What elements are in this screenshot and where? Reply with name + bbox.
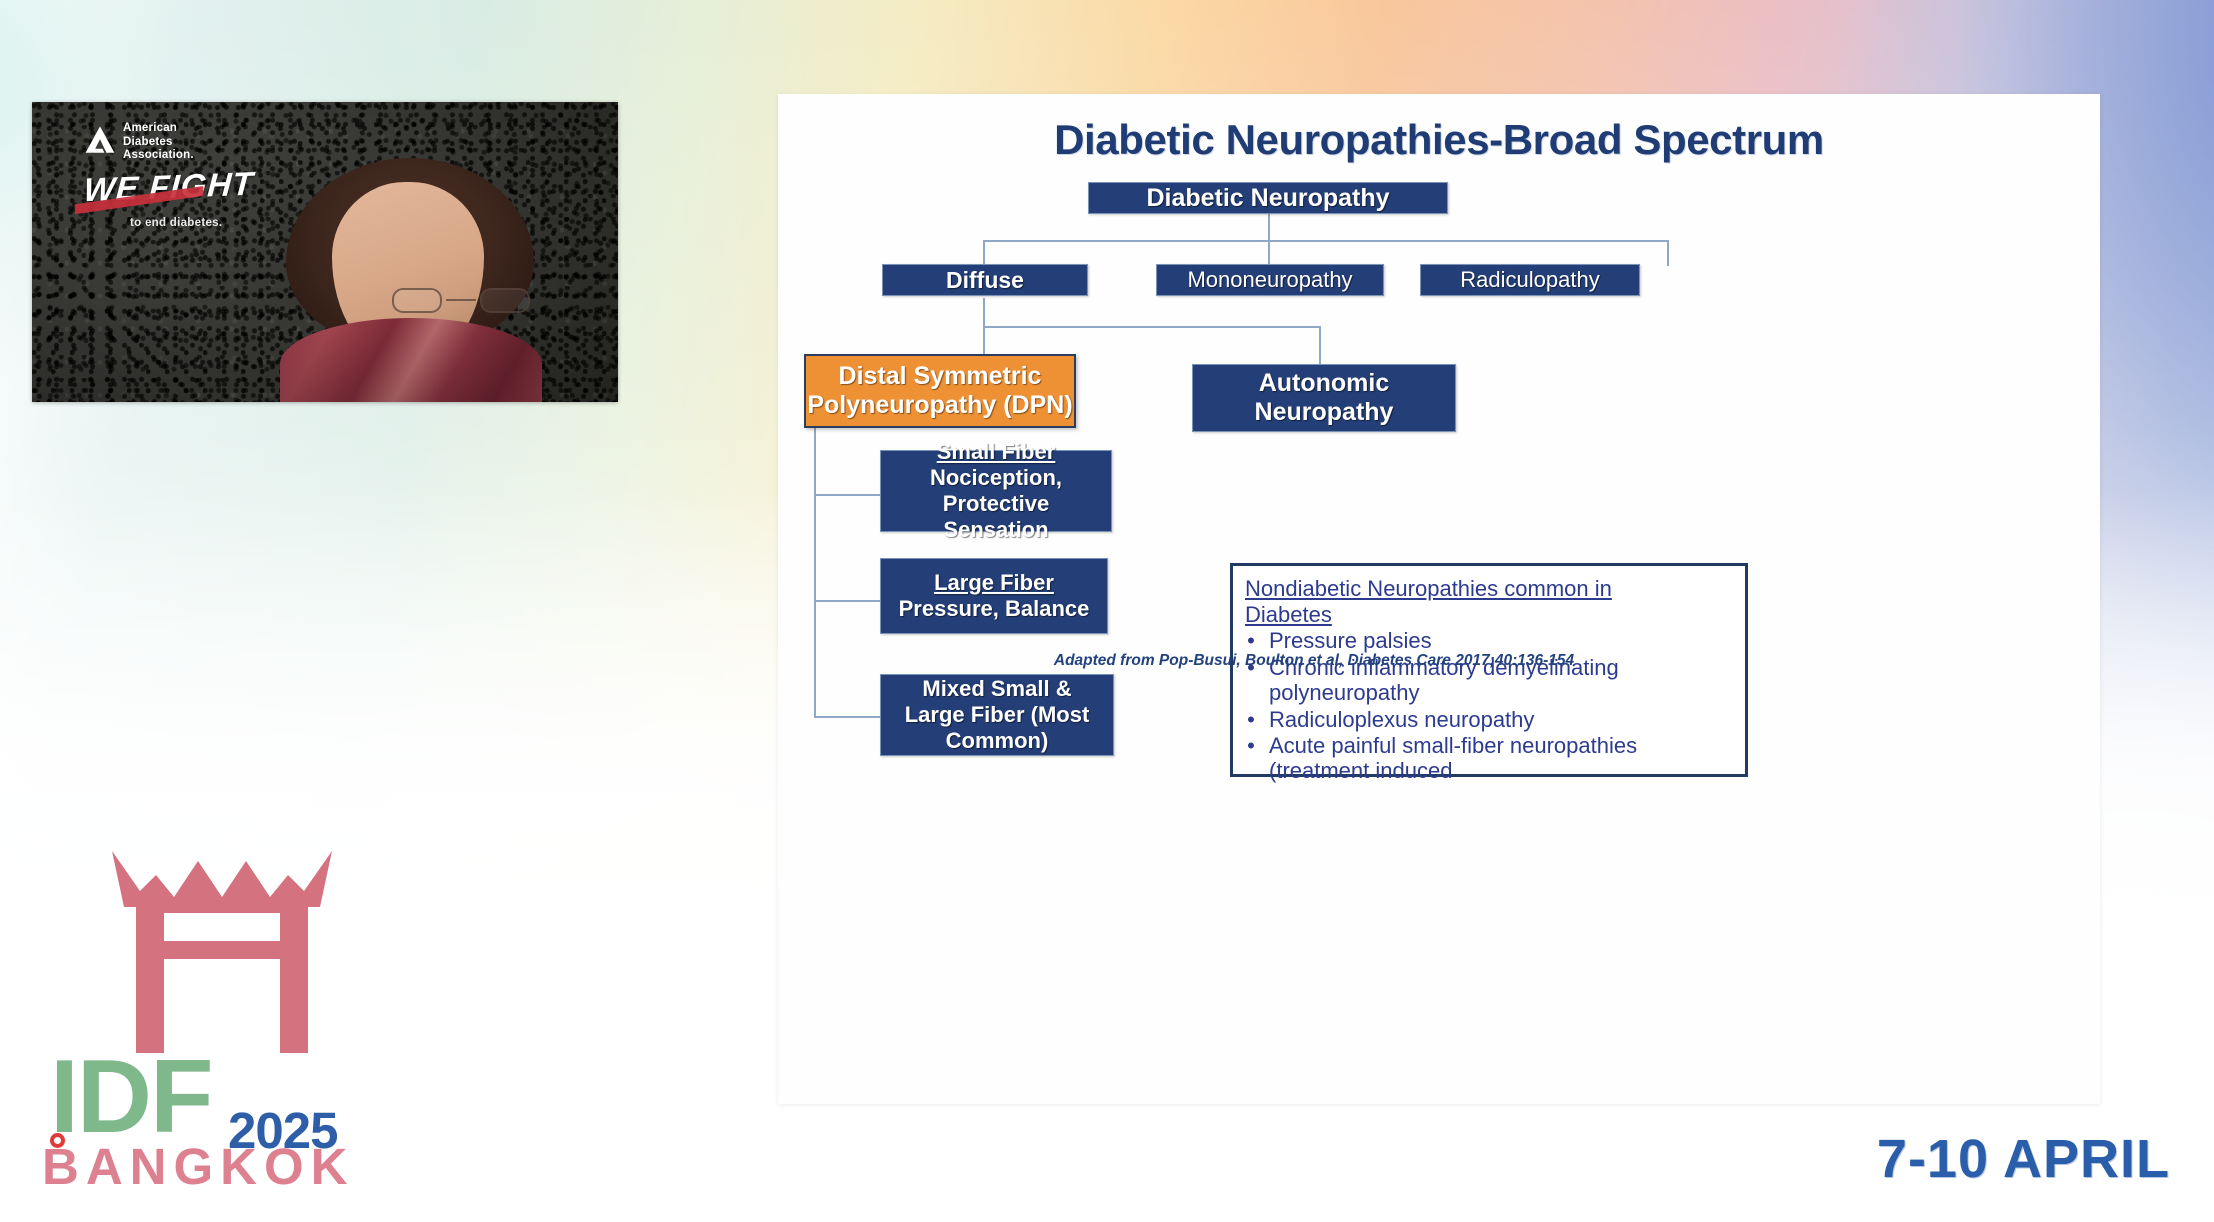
bullet-icon: •	[1245, 734, 1257, 784]
ada-org-line1: American	[123, 122, 194, 136]
list-item: • Acute painful small-fiber neuropathies…	[1245, 734, 1733, 784]
bullet-icon: •	[1245, 708, 1257, 733]
box-dpn-line1: Distal Symmetric	[807, 362, 1072, 391]
ada-org-line2: Diabetes	[123, 136, 194, 150]
connector-root-down	[1268, 212, 1270, 242]
ada-slogan: WE FIGHT	[82, 164, 254, 208]
box-large-fiber-body: Pressure, Balance	[899, 596, 1090, 622]
ada-triangle-icon	[84, 124, 116, 156]
box-diabetic-neuropathy[interactable]: Diabetic Neuropathy	[1088, 182, 1448, 214]
connector-to-radiculopathy	[1667, 240, 1669, 266]
box-mononeuropathy-label: Mononeuropathy	[1187, 267, 1352, 293]
connector-to-dpn	[983, 326, 985, 354]
idf-bangkok-logo: IDF 2025 BANGKOK	[36, 845, 436, 1195]
box-diffuse-label: Diffuse	[946, 267, 1024, 294]
box-mixed-fiber-line3: Common)	[946, 728, 1049, 754]
box-small-fiber-head: Small Fiber	[937, 439, 1056, 465]
box-small-fiber-line1: Nociception, Protective	[881, 465, 1111, 517]
box-small-fiber-line2: Sensation	[943, 517, 1048, 543]
ada-branding: American Diabetes Association. WE FIGHT …	[84, 122, 253, 229]
box-diffuse[interactable]: Diffuse	[882, 264, 1088, 296]
idf-city: BANGKOK	[42, 1141, 355, 1192]
list-item-text: Pressure palsies	[1269, 629, 1733, 654]
thai-temple-gate-icon	[94, 845, 350, 1053]
bullet-icon: •	[1245, 629, 1257, 654]
connector-diffuse-down	[983, 298, 985, 328]
ada-tagline: to end diabetes.	[130, 217, 253, 229]
speaker-video-tile[interactable]: American Diabetes Association. WE FIGHT …	[32, 102, 618, 402]
connector-to-small-fiber	[814, 494, 882, 496]
list-item-text: Acute painful small-fiber neuropathies (…	[1269, 734, 1733, 784]
ada-org-line3: Association.	[123, 149, 194, 163]
box-dpn[interactable]: Distal Symmetric Polyneuropathy (DPN)	[804, 354, 1076, 428]
connector-level1-horizontal	[983, 240, 1669, 242]
box-radiculopathy-label: Radiculopathy	[1460, 267, 1599, 293]
box-mixed-fiber-line2: Large Fiber (Most	[905, 702, 1090, 728]
event-dates: 7-10 APRIL	[1877, 1128, 2170, 1190]
box-large-fiber[interactable]: Large Fiber Pressure, Balance	[880, 558, 1108, 634]
box-autonomic-neuropathy[interactable]: Autonomic Neuropathy	[1192, 364, 1456, 432]
slide-title: Diabetic Neuropathies-Broad Spectrum	[814, 116, 2064, 164]
connector-to-mixed-fiber	[814, 716, 882, 718]
callout-title-line2: Diabetes	[1245, 602, 1733, 628]
box-mixed-fiber-line1: Mixed Small &	[922, 676, 1071, 702]
callout-title-line1: Nondiabetic Neuropathies common in	[1245, 576, 1733, 602]
box-mixed-fiber[interactable]: Mixed Small & Large Fiber (Most Common)	[880, 674, 1114, 756]
connector-to-large-fiber	[814, 600, 882, 602]
box-mononeuropathy[interactable]: Mononeuropathy	[1156, 264, 1384, 296]
list-item: • Pressure palsies	[1245, 629, 1733, 654]
slide-citation: Adapted from Pop-Busui, Boulton et al, D…	[974, 652, 1654, 670]
connector-to-autonomic	[1319, 326, 1321, 366]
box-dpn-line2: Polyneuropathy (DPN)	[807, 391, 1072, 420]
nondiabetic-neuropathies-callout: Nondiabetic Neuropathies common in Diabe…	[1230, 563, 1748, 777]
idf-initials: IDF	[50, 1045, 212, 1149]
presentation-screen: American Diabetes Association. WE FIGHT …	[0, 0, 2214, 1222]
connector-to-diffuse	[983, 240, 985, 266]
connector-diffuse-horizontal	[983, 326, 1321, 328]
connector-to-mononeuropathy	[1268, 240, 1270, 266]
box-radiculopathy[interactable]: Radiculopathy	[1420, 264, 1640, 296]
list-item-text: Radiculoplexus neuropathy	[1269, 708, 1733, 733]
box-diabetic-neuropathy-label: Diabetic Neuropathy	[1146, 184, 1389, 213]
connector-dpn-spine	[814, 428, 816, 718]
box-large-fiber-head: Large Fiber	[934, 570, 1054, 596]
box-small-fiber[interactable]: Small Fiber Nociception, Protective Sens…	[880, 450, 1112, 532]
callout-title: Nondiabetic Neuropathies common in Diabe…	[1245, 576, 1733, 627]
list-item: • Radiculoplexus neuropathy	[1245, 708, 1733, 733]
box-autonomic-neuropathy-label: Autonomic Neuropathy	[1193, 369, 1455, 427]
slide-panel: Diabetic Neuropathies-Broad Spectrum Dia…	[778, 94, 2100, 1104]
